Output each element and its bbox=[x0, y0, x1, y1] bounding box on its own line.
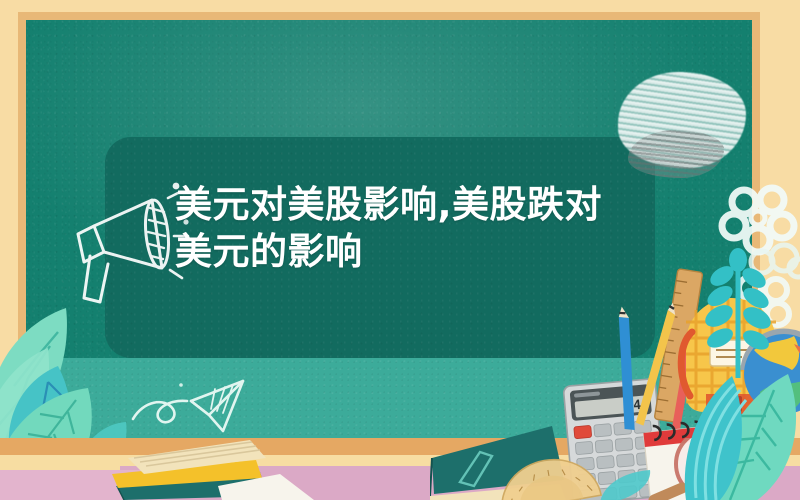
leaf-stripe-right bbox=[680, 368, 755, 500]
paper-sheet bbox=[218, 452, 328, 500]
page-title-line-1: 美元对美股影响,美股跌对 bbox=[175, 181, 645, 228]
page-title: 美元对美股影响,美股跌对 美元的影响 bbox=[175, 181, 645, 275]
illustration-canvas: 美元对美股影响,美股跌对 美元的影响 bbox=[0, 0, 800, 500]
page-title-line-2: 美元的影响 bbox=[175, 228, 645, 275]
protractor-icon bbox=[494, 458, 604, 500]
leaf-small-bottom-center bbox=[600, 470, 660, 500]
leaf-fern-right bbox=[700, 248, 780, 378]
